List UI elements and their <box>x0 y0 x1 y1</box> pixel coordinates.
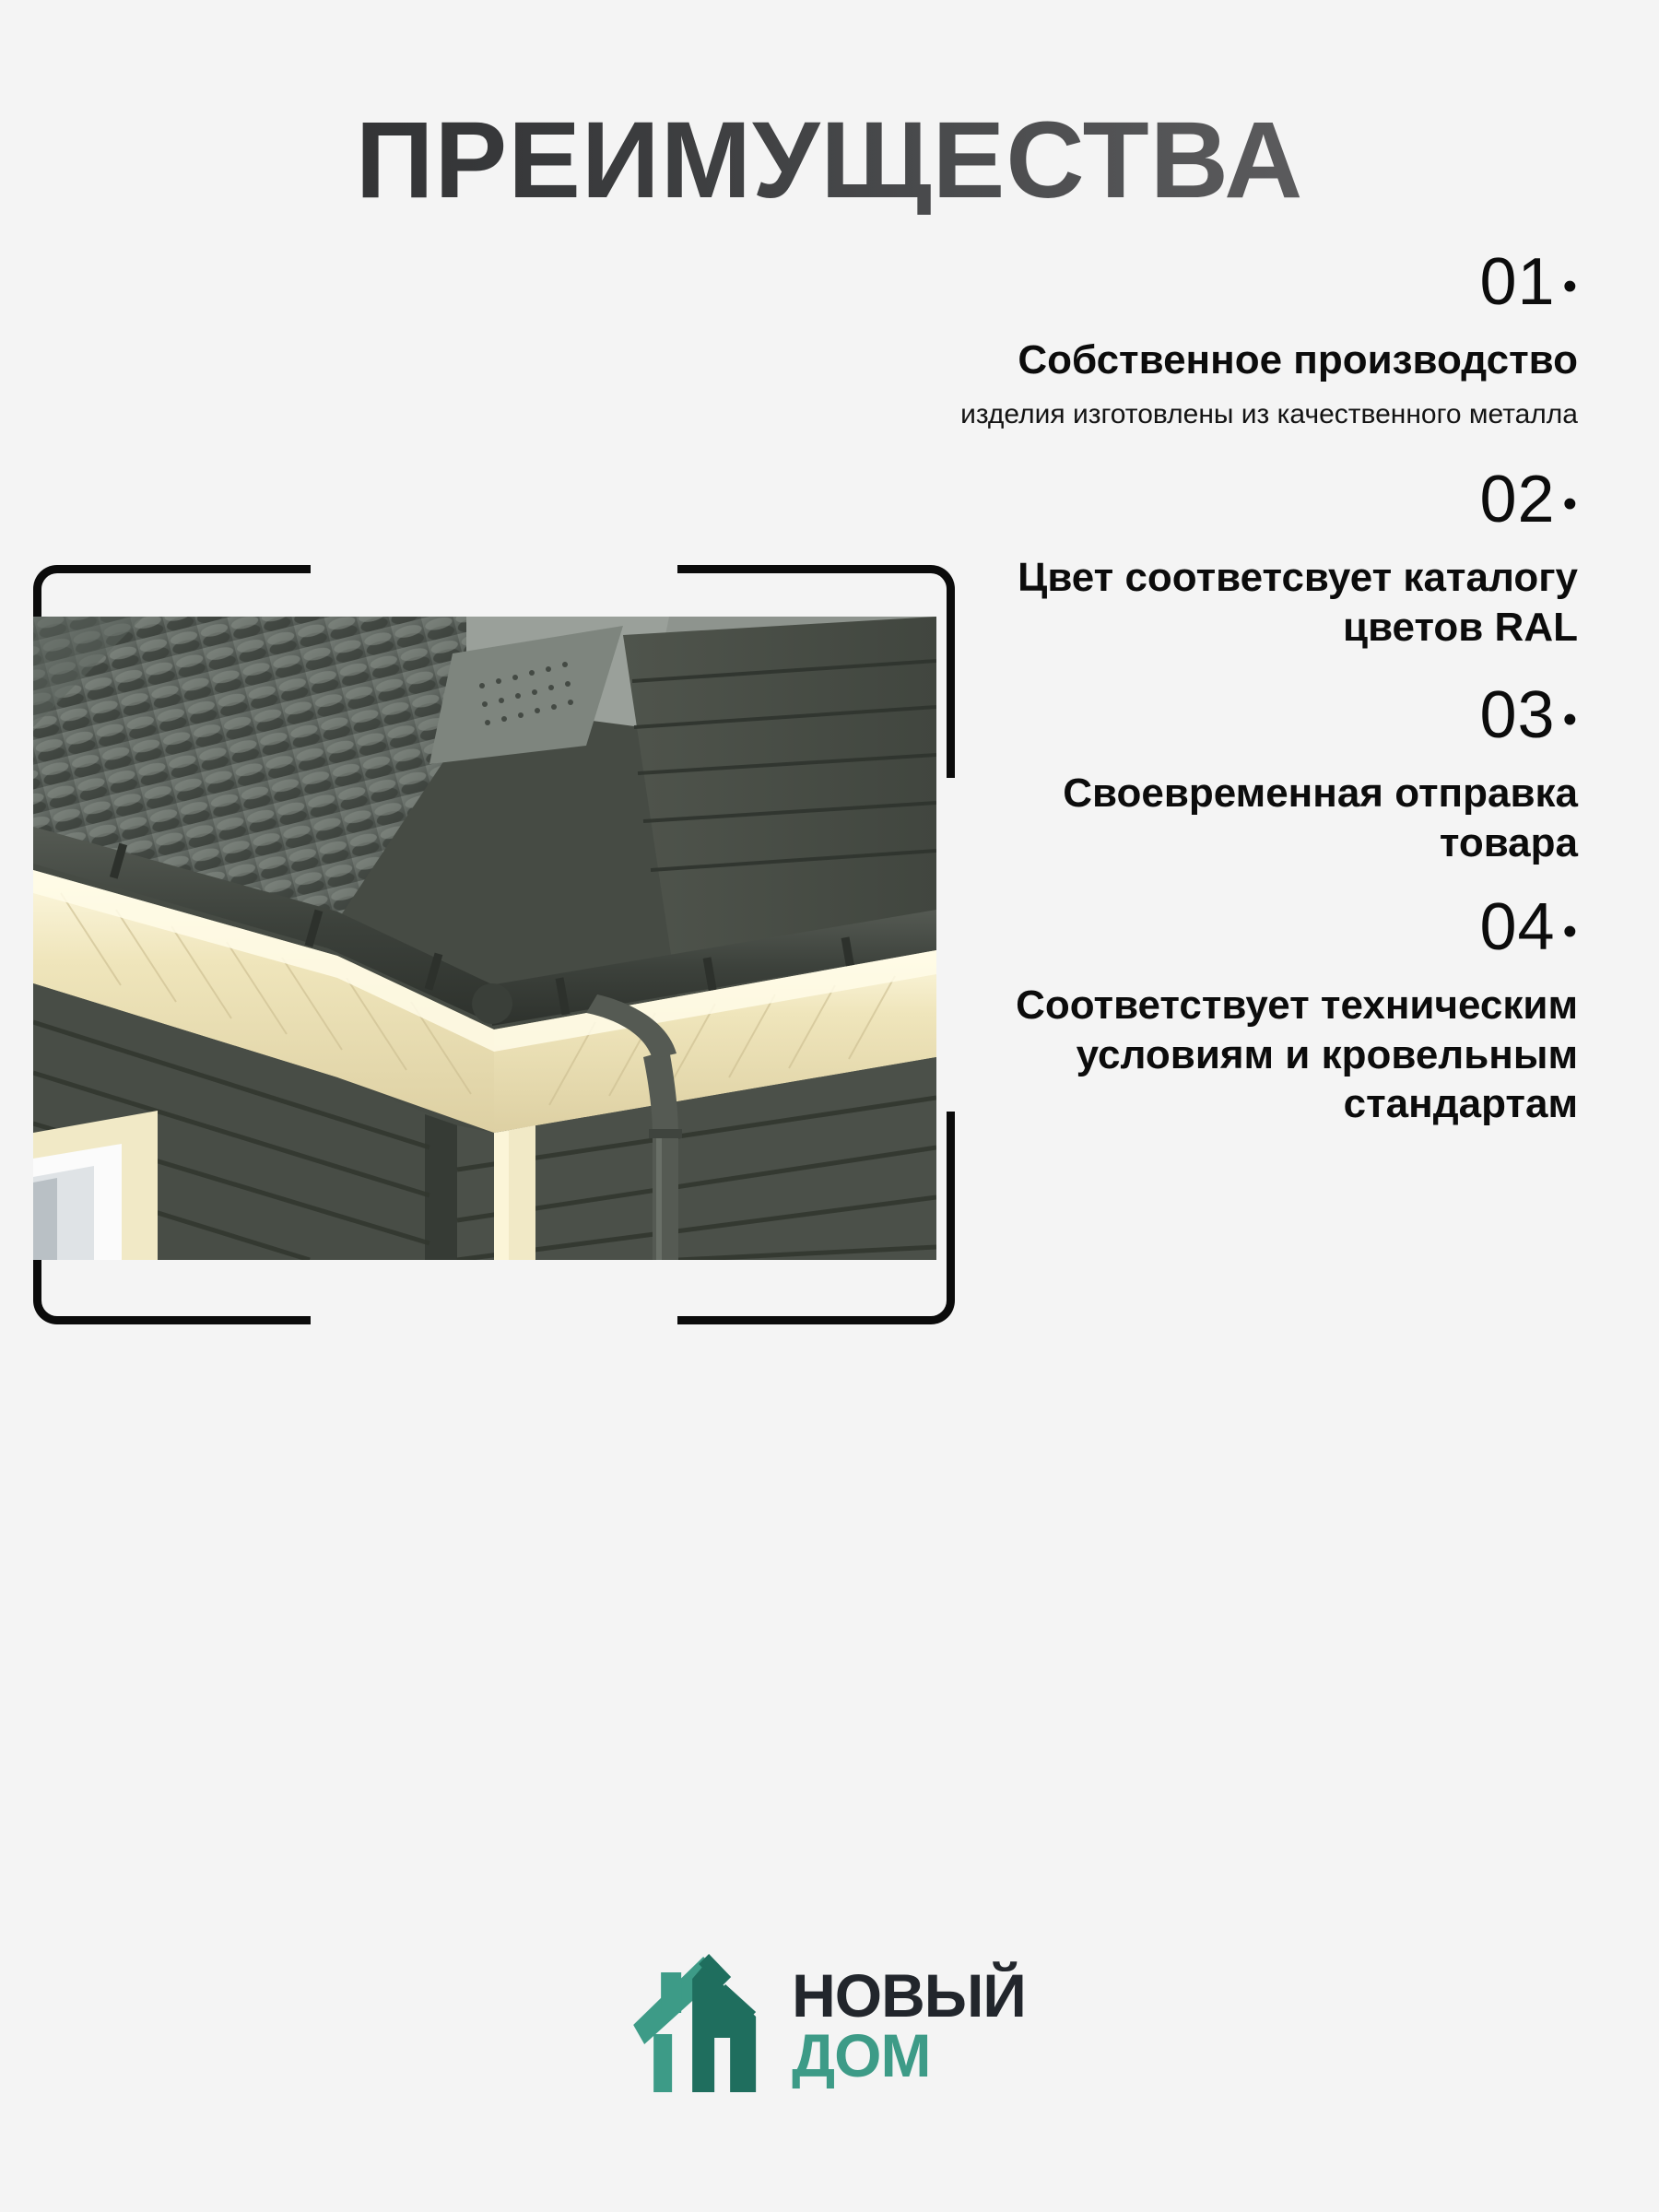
advantage-item-01: 01• Собственное производство изделия изг… <box>933 249 1578 432</box>
advantage-number-01-value: 01 <box>1480 245 1556 319</box>
advantage-number-04: 04• <box>933 894 1578 960</box>
advantage-number-02: 02• <box>933 466 1578 533</box>
advantage-number-02-value: 02 <box>1480 463 1556 536</box>
bullet-dot-icon: • <box>1556 481 1578 526</box>
page-header: ПРЕИМУЩЕСТВА <box>0 106 1659 215</box>
advantage-number-03: 03• <box>933 682 1578 748</box>
bullet-dot-icon: • <box>1556 264 1578 309</box>
brand-logo-text: НОВЫЙ ДОМ <box>792 1968 1026 2083</box>
advantage-heading-04: Соответствует техническим условиям и кро… <box>933 981 1578 1129</box>
photo-frame <box>33 565 955 1324</box>
advantage-heading-02: Цвет соответсвует каталогу цветов RAL <box>933 553 1578 652</box>
brand-name-line1: НОВЫЙ <box>792 1968 1026 2024</box>
brand-logo: НОВЫЙ ДОМ <box>633 1949 1026 2101</box>
advantage-item-03: 03• Своевременная отправка товара <box>933 682 1578 867</box>
bullet-dot-icon: • <box>1556 909 1578 954</box>
advantage-number-01: 01• <box>933 249 1578 315</box>
advantage-item-04: 04• Соответствует техническим условиям и… <box>933 894 1578 1129</box>
brand-name-line2: ДОМ <box>792 2028 1026 2084</box>
product-photo <box>33 617 936 1260</box>
advantage-item-02: 02• Цвет соответсвует каталогу цветов RA… <box>933 466 1578 652</box>
advantage-number-03-value: 03 <box>1480 678 1556 752</box>
advantage-subtext-01: изделия изготовлены из качественного мет… <box>933 396 1578 432</box>
bullet-dot-icon: • <box>1556 697 1578 742</box>
advantage-number-04-value: 04 <box>1480 890 1556 964</box>
page-title: ПРЕИМУЩЕСТВА <box>356 106 1304 215</box>
advantage-heading-01: Собственное производство <box>933 335 1578 385</box>
advantage-heading-03: Своевременная отправка товара <box>933 769 1578 867</box>
house-icon <box>633 1949 771 2101</box>
